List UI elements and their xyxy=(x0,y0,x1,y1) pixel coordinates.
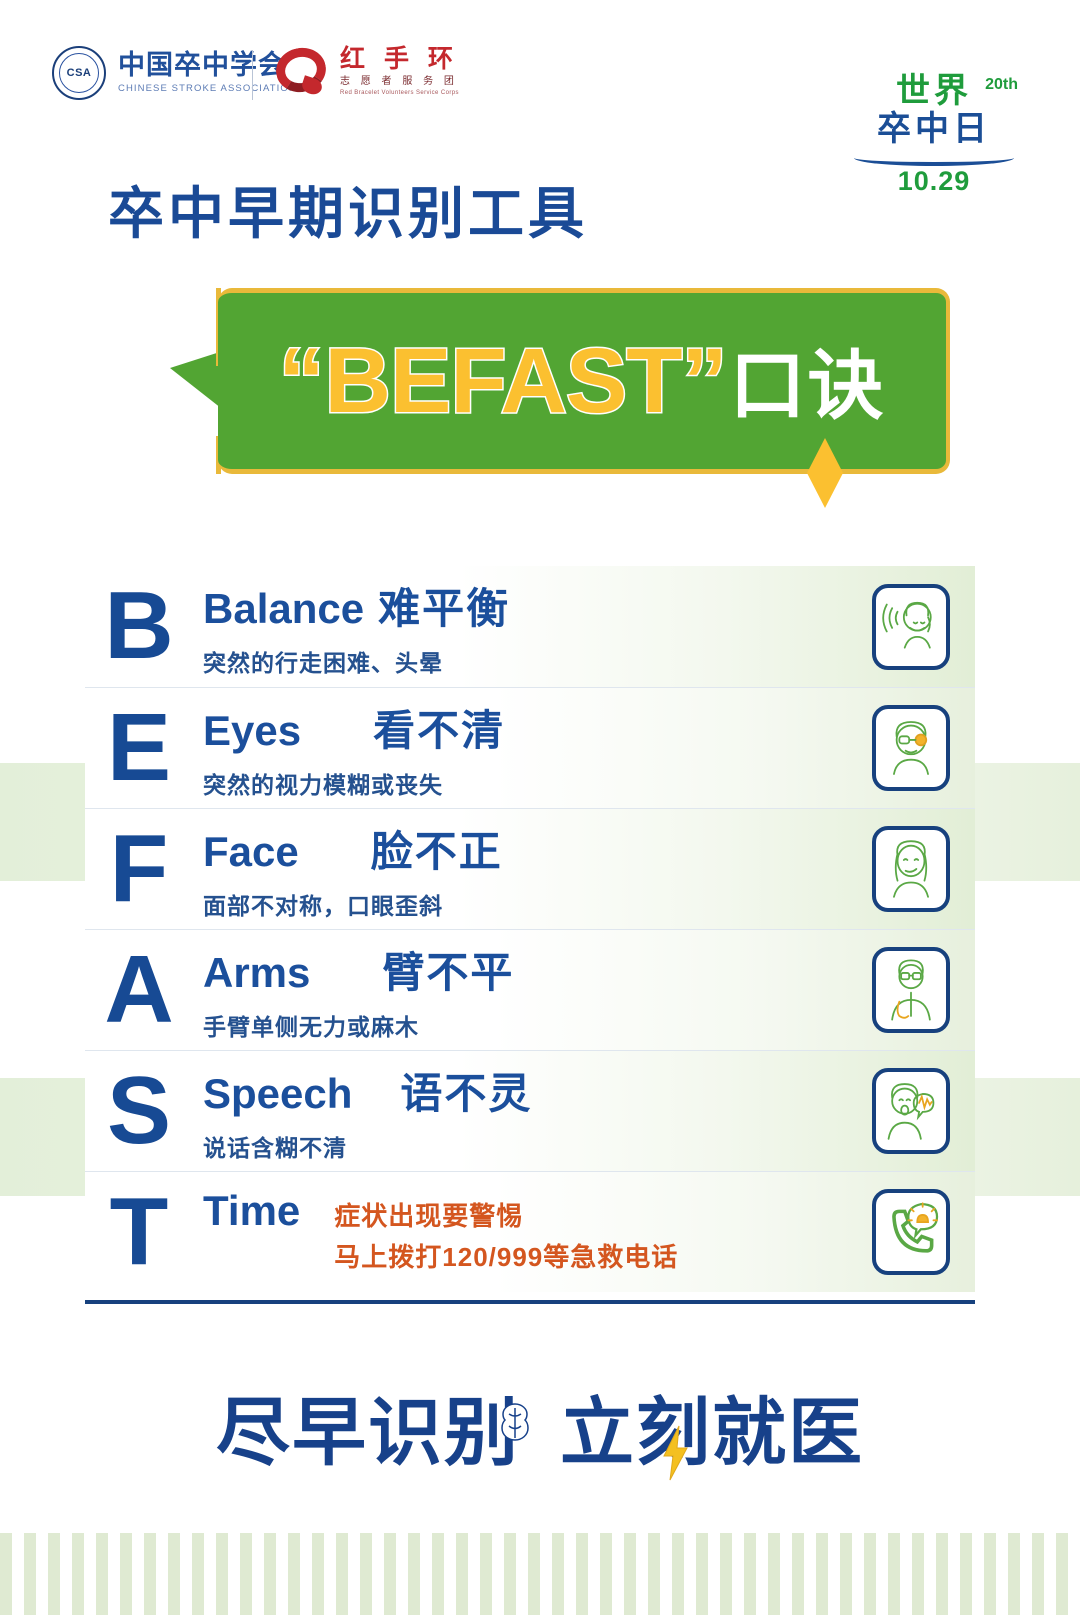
wsd-line2: 卒中日 xyxy=(844,112,1024,148)
banner-quote-open: “ xyxy=(279,335,325,427)
red-bracelet-logo: 红 手 环 志 愿 者 服 务 团 Red Bracelet Volunteer… xyxy=(272,44,459,98)
row-letter-f: F xyxy=(85,825,193,913)
weak-arm-person-icon xyxy=(872,947,950,1033)
banner-suffix: 口诀 xyxy=(729,349,885,425)
lightning-bolt-icon xyxy=(660,1424,690,1482)
banner-acronym: BEFAST xyxy=(325,335,682,427)
logo-divider xyxy=(252,50,253,100)
dizzy-person-icon xyxy=(872,584,950,670)
world-stroke-day-logo: 世界 20th 卒中日 10.29 xyxy=(844,74,1024,184)
row-letter-a: A xyxy=(85,946,193,1034)
table-row: E Eyes 看不清 突然的视力模糊或丧失 xyxy=(85,687,975,808)
slurred-speech-person-icon xyxy=(872,1068,950,1154)
row-en-s: Speech xyxy=(203,1070,352,1118)
row-en-t: Time xyxy=(203,1187,300,1235)
emergency-call-icon xyxy=(872,1189,950,1275)
time-alert-line2: 马上拨打120/999等急救电话 xyxy=(334,1237,678,1277)
brain-icon xyxy=(488,1398,542,1452)
row-cn-s: 语不灵 xyxy=(400,1060,532,1121)
page-title: 卒中早期识别工具 xyxy=(108,186,588,242)
row-en-e: Eyes xyxy=(203,707,301,755)
bottom-stripe-decoration xyxy=(0,1533,1080,1615)
row-letter-b: B xyxy=(85,582,193,670)
row-letter-e: E xyxy=(85,704,193,792)
banner-quote-close: ” xyxy=(681,335,727,427)
row-letter-s: S xyxy=(85,1067,193,1155)
list-bottom-rule xyxy=(85,1300,975,1304)
wsd-superscript: 20th xyxy=(985,76,1018,94)
time-alert-line1: 症状出现要警惕 xyxy=(334,1196,678,1236)
befast-list: B Balance 难平衡 突然的行走困难、头晕 E xyxy=(85,566,975,1292)
slogan-part2: 立刻就医 xyxy=(560,1391,864,1474)
wsd-arc-icon xyxy=(854,150,1014,166)
eye-patch-person-icon xyxy=(872,705,950,791)
row-en-a: Arms xyxy=(203,949,310,997)
row-cn-a: 臂不平 xyxy=(382,939,514,1000)
red-bracelet-icon xyxy=(272,44,330,98)
csa-logo-en: CHINESE STROKE ASSOCIATION xyxy=(118,84,297,94)
wsd-date: 10.29 xyxy=(844,168,1024,195)
row-sub-e: 突然的视力模糊或丧失 xyxy=(203,766,847,800)
row-sub-f: 面部不对称，口眼歪斜 xyxy=(203,887,847,921)
row-en-b: Balance xyxy=(203,585,364,633)
csa-logo-cn: 中国卒中学会 xyxy=(118,52,297,79)
row-cn-f: 脸不正 xyxy=(371,818,503,879)
table-row: B Balance 难平衡 突然的行走困难、头晕 xyxy=(85,566,975,687)
row-sub-b: 突然的行走困难、头晕 xyxy=(203,644,847,678)
row-en-f: Face xyxy=(203,828,299,876)
table-row: S Speech 语不灵 说话含糊不清 xyxy=(85,1050,975,1171)
row-sub-s: 说话含糊不清 xyxy=(203,1129,847,1163)
row-cn-e: 看不清 xyxy=(373,697,505,758)
row-sub-a: 手臂单侧无力或麻木 xyxy=(203,1008,847,1042)
red-bracelet-en: Red Bracelet Volunteers Service Corps xyxy=(340,90,459,96)
befast-banner: “ BEFAST ” 口诀 xyxy=(170,288,950,484)
slogan-part1: 尽早识别 xyxy=(216,1391,520,1474)
red-bracelet-sub: 志 愿 者 服 务 团 xyxy=(340,77,459,87)
crooked-face-person-icon xyxy=(872,826,950,912)
table-row: A Arms 臂不平 手臂单侧无力或麻木 xyxy=(85,929,975,1050)
csa-seal-icon: CSA xyxy=(52,46,106,100)
csa-logo: CSA 中国卒中学会 CHINESE STROKE ASSOCIATION xyxy=(52,46,297,100)
red-bracelet-cn: 红 手 环 xyxy=(340,47,459,72)
row-letter-t: T xyxy=(85,1188,193,1276)
table-row: F Face 脸不正 面部不对称，口眼歪斜 xyxy=(85,808,975,929)
header-logo-bar: CSA 中国卒中学会 CHINESE STROKE ASSOCIATION 红 … xyxy=(0,38,1080,148)
table-row: T Time 症状出现要警惕 马上拨打120/999等急救电话 xyxy=(85,1171,975,1292)
csa-seal-text: CSA xyxy=(54,48,104,98)
sparkle-icon xyxy=(798,438,852,508)
row-cn-b: 难平衡 xyxy=(378,575,510,636)
